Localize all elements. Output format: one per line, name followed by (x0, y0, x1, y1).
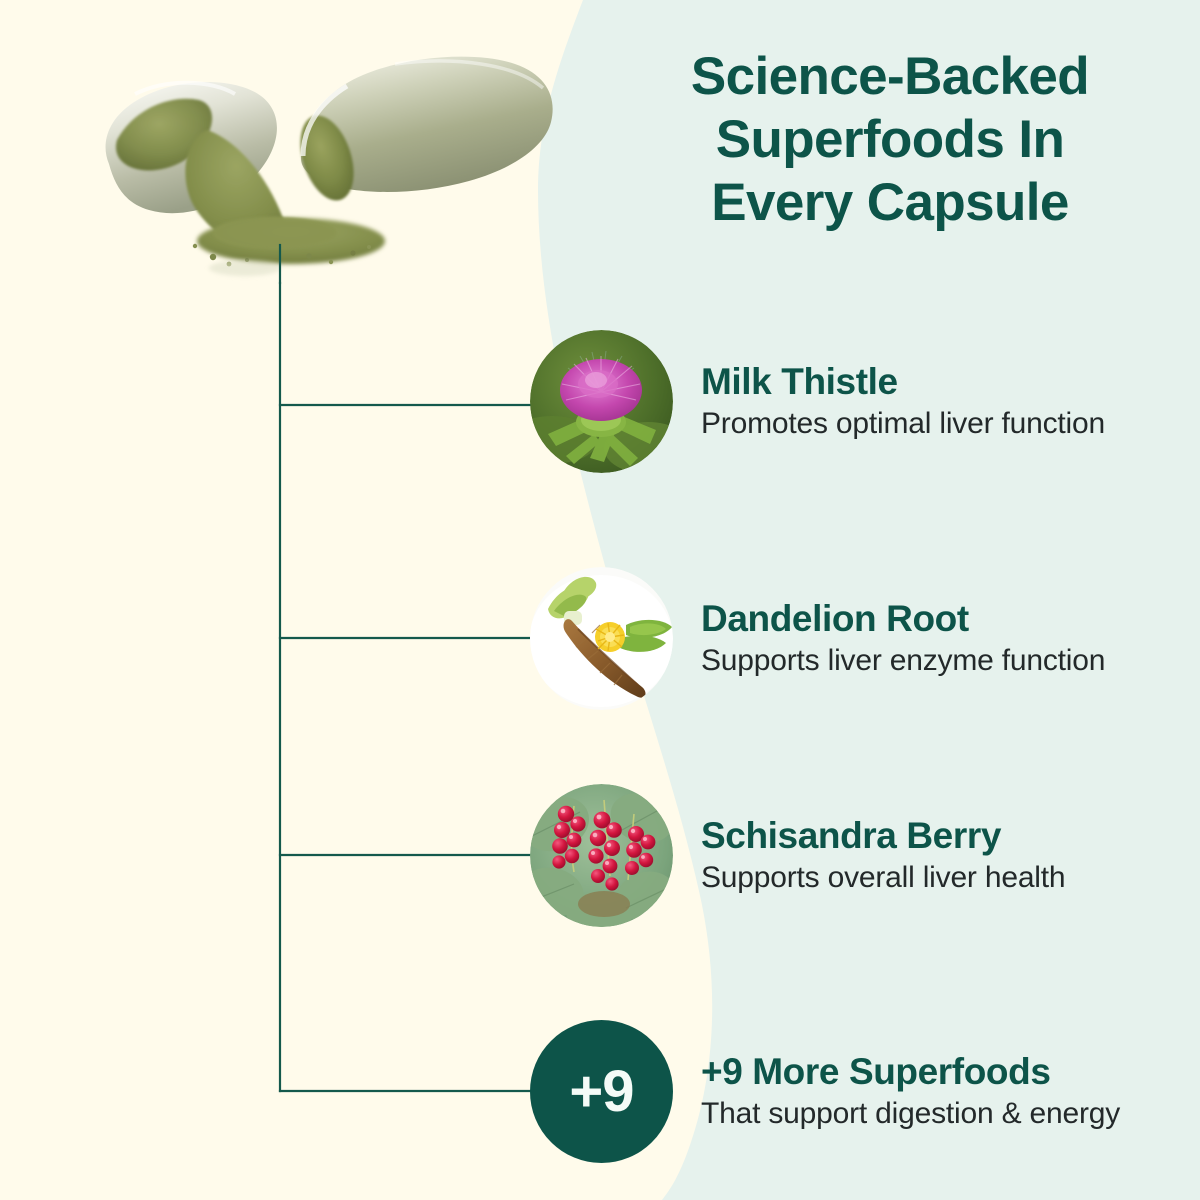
ingredient-row-milk-thistle: Milk Thistle Promotes optimal liver func… (530, 330, 1105, 473)
plus-nine-badge-label: +9 (569, 1063, 633, 1121)
plus-nine-badge: +9 (530, 1020, 673, 1163)
ingredient-row-dandelion-root: Dandelion Root Supports liver enzyme fun… (530, 567, 1105, 710)
milk-thistle-thumbnail (530, 330, 673, 473)
dandelion-root-thumbnail (530, 567, 673, 710)
ingredient-subtitle: Promotes optimal liver function (701, 406, 1105, 441)
page-title: Science-Backed Superfoods In Every Capsu… (610, 45, 1170, 234)
more-superfoods-subtitle: That support digestion & energy (701, 1096, 1120, 1131)
capsule-right-half (291, 57, 553, 208)
ingredient-row-schisandra-berry: Schisandra Berry Supports overall liver … (530, 784, 1065, 927)
ingredient-title: Dandelion Root (701, 599, 1105, 638)
dandelion-bloom (595, 622, 625, 652)
headline-line-3: Every Capsule (610, 171, 1170, 234)
infographic-canvas: Science-Backed Superfoods In Every Capsu… (0, 0, 1200, 1200)
capsule-hero-image (95, 48, 565, 298)
schisandra-berry-thumbnail (530, 784, 673, 927)
ingredient-subtitle: Supports overall liver health (701, 860, 1065, 895)
headline-line-2: Superfoods In (610, 108, 1170, 171)
ingredient-title: Schisandra Berry (701, 816, 1065, 855)
headline-line-1: Science-Backed (610, 45, 1170, 108)
more-superfoods-row: +9 +9 More Superfoods That support diges… (530, 1020, 1120, 1163)
more-superfoods-title: +9 More Superfoods (701, 1052, 1120, 1091)
ingredient-subtitle: Supports liver enzyme function (701, 643, 1105, 678)
ingredient-title: Milk Thistle (701, 362, 1105, 401)
